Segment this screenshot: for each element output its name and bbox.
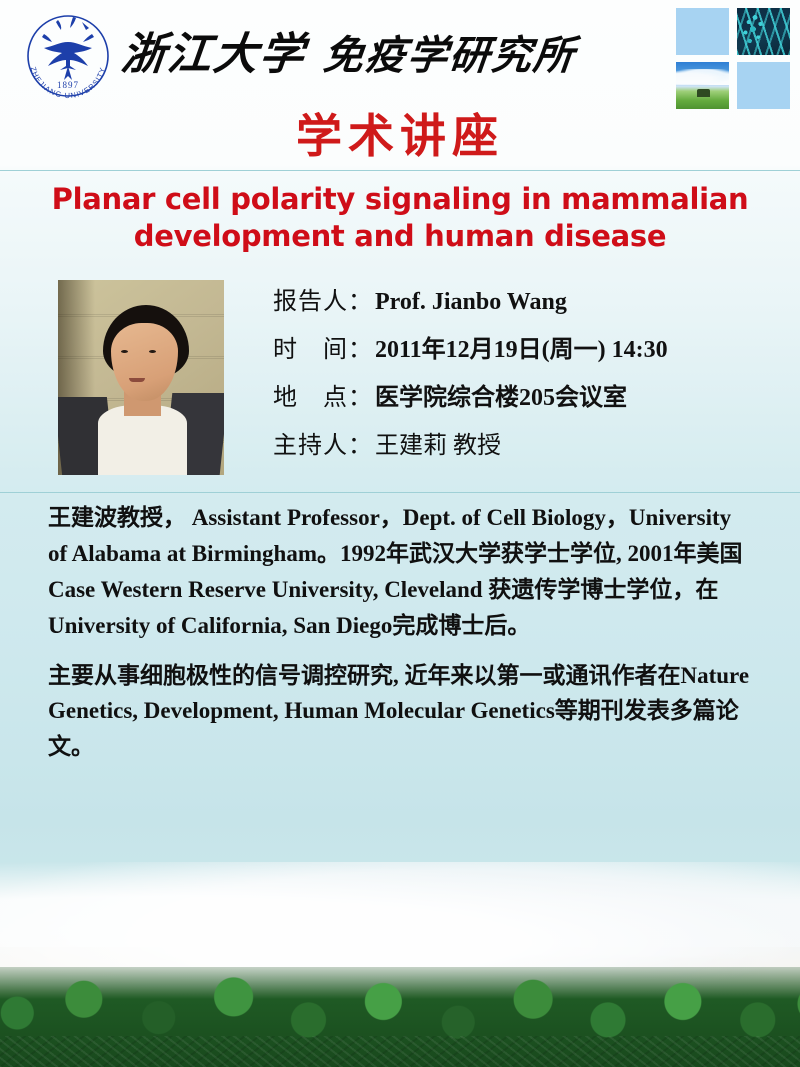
info-row-time: 时 间： 2011年12月19日(周一) 14:30 — [273, 329, 773, 364]
svg-text:1897: 1897 — [57, 80, 79, 90]
landscape-foliage — [0, 967, 800, 1067]
bottom-landscape-image — [0, 817, 800, 1067]
photo-mouth — [129, 378, 145, 382]
info-label-speaker: 报告人： — [273, 281, 373, 316]
info-value-location: 医学院综合楼205会议室 — [375, 377, 627, 412]
info-value-speaker: Prof. Jianbo Wang — [375, 289, 567, 316]
bio-paragraph-1: 王建波教授， Assistant Professor，Dept. of Cell… — [48, 500, 756, 644]
info-label-location: 地 点： — [273, 377, 373, 412]
poster-header: 1897 ZHEJIANG UNIVERSITY 浙江大学免疫学研究所 学术讲座 — [0, 0, 800, 170]
bio-paragraph-2: 主要从事细胞极性的信号调控研究, 近年来以第一或通讯作者在Nature Gene… — [48, 658, 756, 766]
title-line-1: Planar cell polarity signaling in mammal… — [20, 181, 780, 218]
page-title: Planar cell polarity signaling in mammal… — [20, 181, 780, 255]
divider-top — [0, 170, 800, 171]
institute-name-text: 免疫学研究所 — [321, 33, 578, 78]
info-row-host: 主持人： 王建莉 教授 — [273, 425, 773, 460]
institute-name: 浙江大学免疫学研究所 — [119, 18, 580, 82]
info-label-time: 时 间： — [273, 329, 373, 364]
info-row-speaker: 报告人： Prof. Jianbo Wang — [273, 281, 773, 316]
tile-dna-molecules — [737, 8, 790, 55]
info-value-host: 王建莉 教授 — [375, 425, 501, 460]
title-line-2: development and human disease — [20, 218, 780, 255]
info-row-location: 地 点： 医学院综合楼205会议室 — [273, 377, 773, 412]
divider-middle — [0, 492, 800, 493]
lecture-info-list: 报告人： Prof. Jianbo Wang 时 间： 2011年12月19日(… — [273, 281, 773, 473]
info-value-time: 2011年12月19日(周一) 14:30 — [375, 329, 668, 364]
tile-plain-blue — [676, 8, 729, 55]
lecture-banner-title: 学术讲座 — [0, 100, 800, 166]
zhejiang-university-logo-icon: 1897 ZHEJIANG UNIVERSITY — [14, 8, 122, 104]
header-image-tiles — [676, 8, 792, 112]
university-name: 浙江大学 — [119, 30, 308, 79]
landscape-foliage-texture — [0, 1036, 800, 1067]
speaker-photo — [58, 280, 224, 475]
info-label-host: 主持人： — [273, 425, 373, 460]
speaker-biography: 王建波教授， Assistant Professor，Dept. of Cell… — [48, 500, 756, 779]
lecture-poster: 1897 ZHEJIANG UNIVERSITY 浙江大学免疫学研究所 学术讲座… — [0, 0, 800, 1067]
